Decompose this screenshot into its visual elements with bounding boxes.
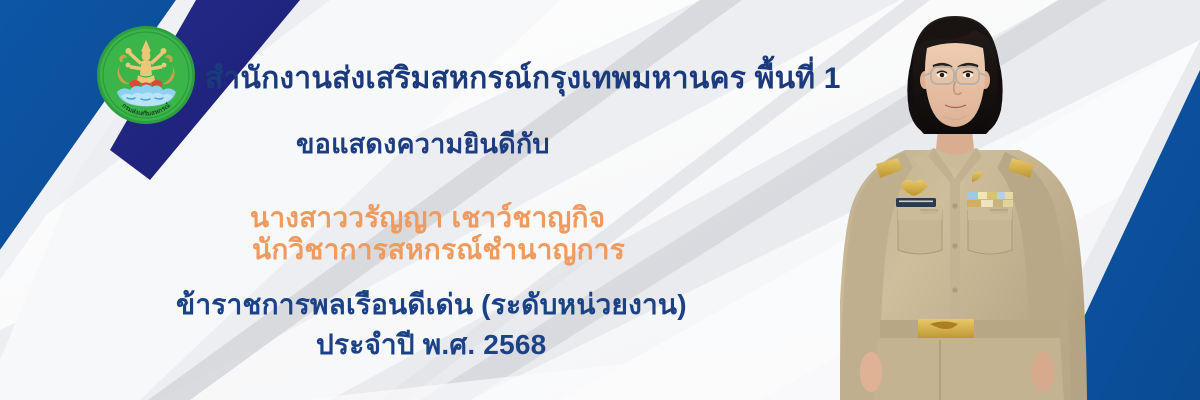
pupil-left [940, 73, 945, 78]
hand-left [860, 352, 882, 392]
pupil-right [966, 73, 971, 78]
congratulation-banner: กรมส่งเสริมสหกรณ์ [0, 0, 1200, 400]
name-tag-text [899, 201, 933, 203]
name-tag [896, 198, 936, 207]
award-recipient-photo [837, 16, 1087, 400]
portrait-layer [0, 0, 1200, 400]
hand-right [1032, 352, 1054, 392]
